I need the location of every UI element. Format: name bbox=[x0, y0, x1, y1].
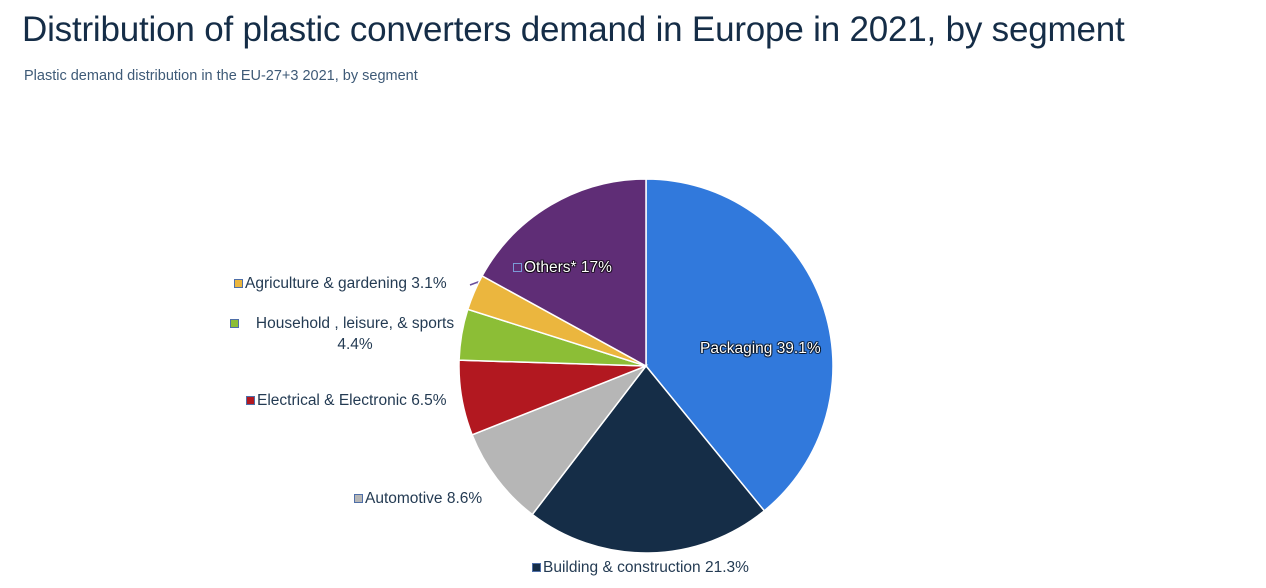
swatch-agriculture-gardening bbox=[234, 279, 243, 288]
swatch-others bbox=[513, 263, 522, 272]
slice-label-building-construction[interactable]: Building & construction 21.3% bbox=[532, 557, 749, 578]
swatch-building-construction bbox=[532, 563, 541, 572]
slice-label-text: Electrical & Electronic 6.5% bbox=[257, 390, 447, 411]
slice-label-text: Agriculture & gardening 3.1% bbox=[245, 273, 447, 294]
slice-label-text: Household , leisure, & sports 4.4% bbox=[241, 313, 469, 355]
slice-label-packaging[interactable]: Packaging 39.1% bbox=[700, 338, 821, 359]
slice-label-household-leisure-sports[interactable]: Household , leisure, & sports 4.4% bbox=[230, 313, 470, 355]
pie-chart-plot-area: Agriculture & gardening 3.1% Household ,… bbox=[0, 110, 1266, 588]
slice-label-agriculture-gardening[interactable]: Agriculture & gardening 3.1% bbox=[234, 273, 447, 294]
slice-label-others[interactable]: Others* 17% bbox=[513, 257, 612, 278]
slice-label-text: Building & construction 21.3% bbox=[543, 557, 749, 578]
swatch-electrical-electronic bbox=[246, 396, 255, 405]
slice-label-text: Packaging 39.1% bbox=[700, 338, 821, 359]
pie-slices bbox=[459, 179, 833, 553]
slice-label-text: Automotive 8.6% bbox=[365, 488, 482, 509]
pie-chart-svg bbox=[0, 110, 1266, 588]
slice-label-automotive[interactable]: Automotive 8.6% bbox=[354, 488, 482, 509]
slice-label-electrical-electronic[interactable]: Electrical & Electronic 6.5% bbox=[246, 390, 447, 411]
swatch-automotive bbox=[354, 494, 363, 503]
swatch-household-leisure-sports bbox=[230, 319, 239, 328]
slice-label-text: Others* 17% bbox=[524, 257, 612, 278]
chart-subtitle: Plastic demand distribution in the EU-27… bbox=[24, 66, 418, 86]
page-title: Distribution of plastic converters deman… bbox=[22, 8, 1252, 52]
